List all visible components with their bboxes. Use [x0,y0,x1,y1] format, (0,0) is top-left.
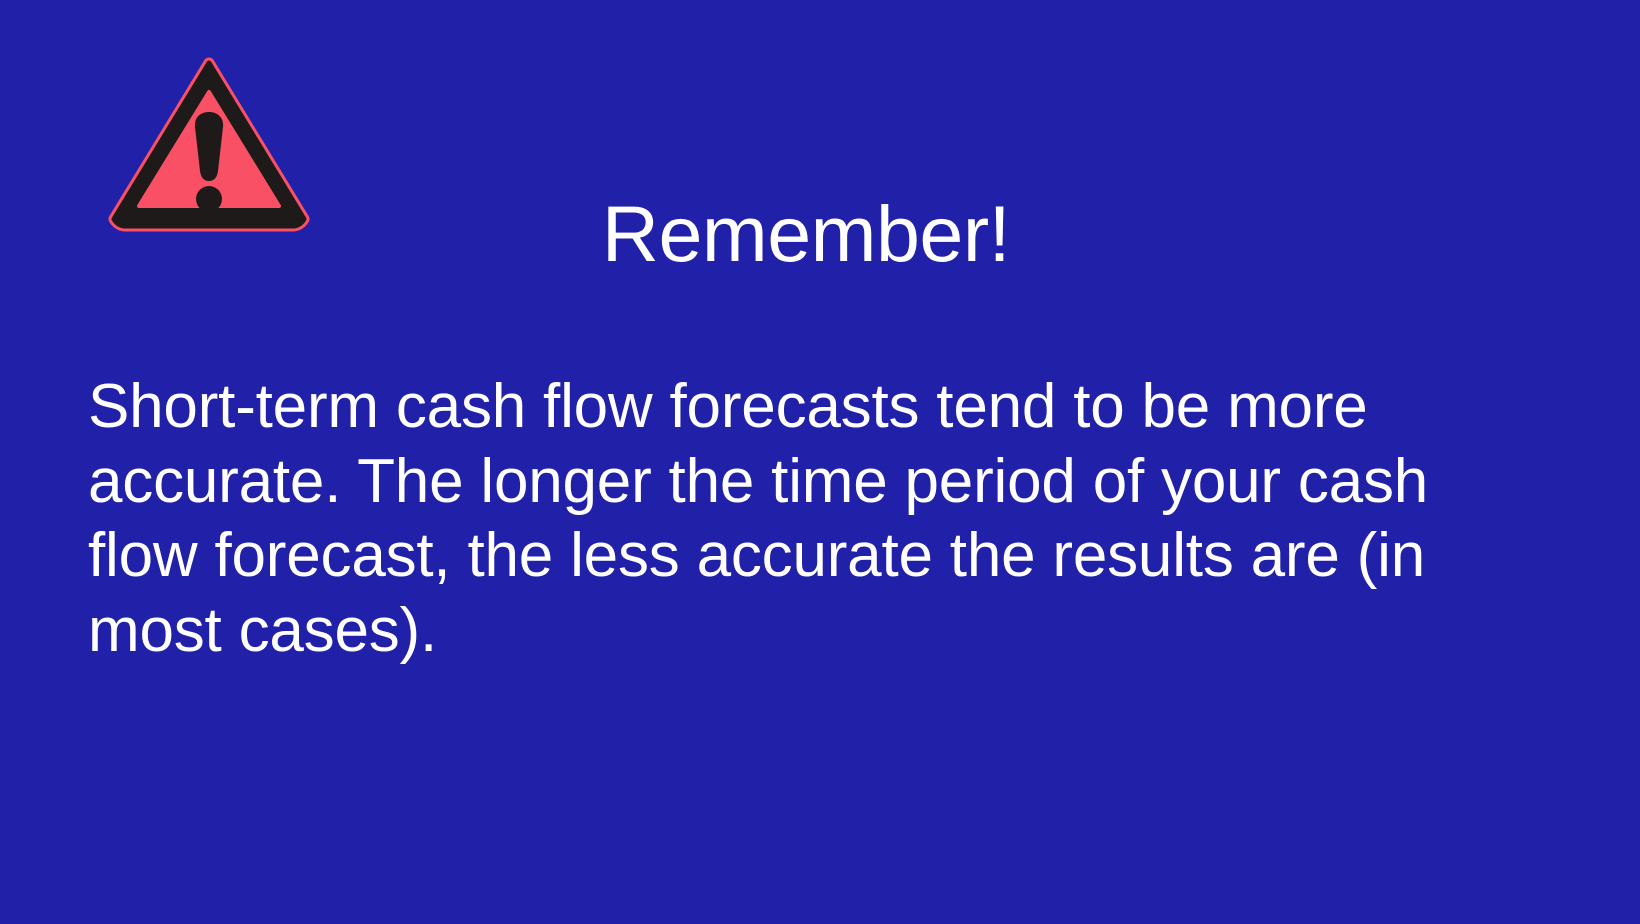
warning-triangle-icon [108,54,310,232]
page-title: Remember! [598,194,1014,273]
body-text: Short-term cash flow forecasts tend to b… [88,370,1433,668]
slide-canvas: Remember! Short-term cash flow forecasts… [0,0,1640,924]
exclamation-dot-icon [196,186,222,212]
